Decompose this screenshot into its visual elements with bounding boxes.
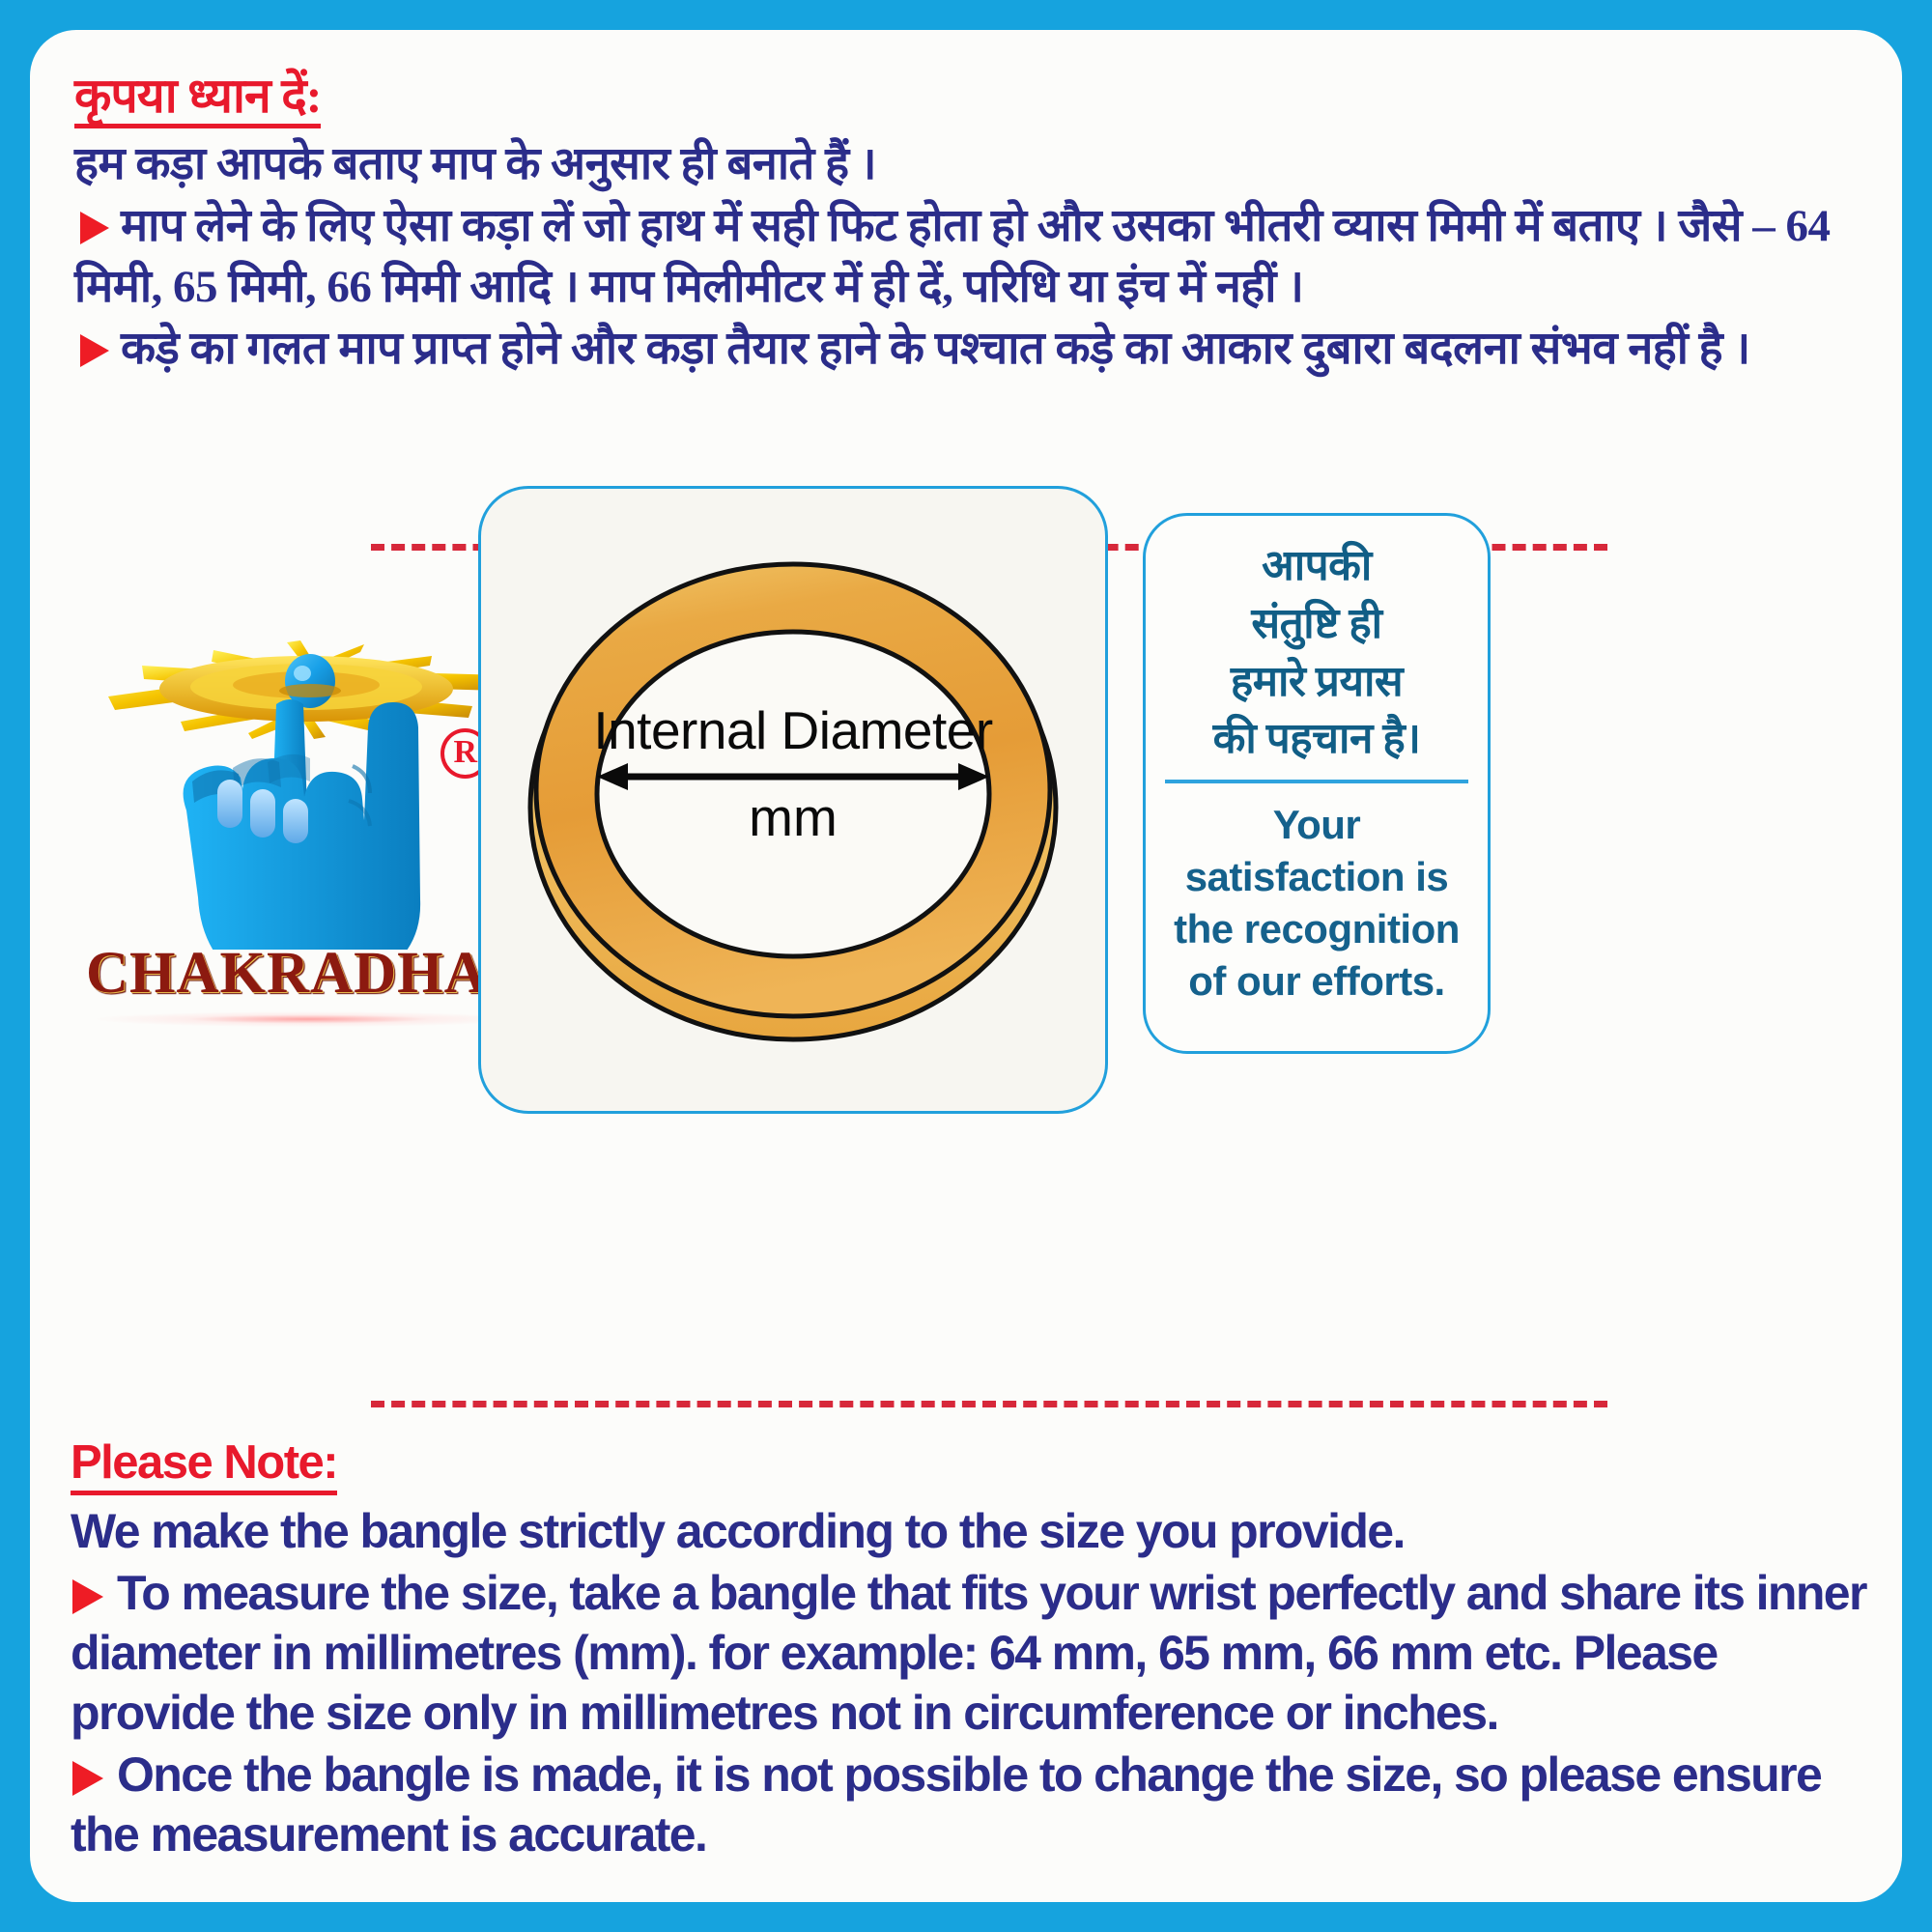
satisfaction-english: Your satisfaction is the recognition of … [1159,799,1474,1007]
hindi-notice-bullet-2-row: कड़े का गलत माप प्राप्त होने और कड़ा तैय… [74,319,1871,380]
satisfaction-english-line-3: the recognition [1159,903,1474,955]
english-notice-bullet-2-row: Once the bangle is made, it is not possi… [71,1745,1877,1864]
bangle-diagram-card: Internal Diameter mm [478,486,1108,1114]
brand-logo: R CHAKRADHARI [86,621,530,1027]
arrow-bullet-icon [72,1579,103,1614]
hindi-notice-heading: कृपया ध्यान दें: [74,71,321,128]
satisfaction-card: आपकी संतुष्टि ही हमारे प्रयास की पहचान ह… [1143,513,1491,1054]
hindi-notice-bullet-2: कड़े का गलत माप प्राप्त होने और कड़ा तैय… [121,324,1750,374]
hand-icon [184,699,421,950]
arrow-bullet-icon [80,334,109,367]
english-notice-bullet-1: To measure the size, take a bangle that … [71,1566,1866,1740]
satisfaction-hindi: आपकी संतुष्टि ही हमारे प्रयास की पहचान ह… [1159,537,1474,768]
hindi-notice-intro: हम कड़ा आपके बताए माप के अनुसार ही बनाते… [74,134,1871,195]
arrow-bullet-icon [80,212,109,244]
hindi-notice-section: कृपया ध्यान दें: हम कड़ा आपके बताए माप क… [74,71,1871,380]
unit-label: mm [481,786,1105,848]
arrow-bullet-icon [72,1761,103,1796]
satisfaction-english-line-1: Your [1159,799,1474,851]
english-notice-bullet-2: Once the bangle is made, it is not possi… [71,1747,1821,1861]
satisfaction-hindi-line-1: आपकी [1159,537,1474,595]
card-frame: कृपया ध्यान दें: हम कड़ा आपके बताए माप क… [30,30,1902,1902]
logo-glow-decor [96,1011,521,1027]
middle-section: R CHAKRADHARI [30,571,1902,1382]
english-notice-bullet-1-row: To measure the size, take a bangle that … [71,1563,1877,1743]
internal-diameter-label: Internal Diameter [481,699,1105,761]
chakra-spikes-icon [108,640,504,739]
english-notice-heading: Please Note: [71,1435,337,1495]
brand-name: CHAKRADHARI [86,940,530,1008]
satisfaction-english-line-2: satisfaction is [1159,851,1474,903]
satisfaction-hindi-line-4: की पहचान है। [1159,710,1474,768]
hand-spinning-chakra-icon [86,621,530,950]
hindi-notice-bullet-1-row: माप लेने के लिए ऐसा कड़ा लें जो हाथ में … [74,196,1871,317]
english-notice-intro: We make the bangle strictly according to… [71,1501,1877,1561]
english-notice-section: Please Note: We make the bangle strictly… [71,1435,1877,1864]
satisfaction-english-line-4: of our efforts. [1159,955,1474,1008]
satisfaction-hindi-line-3: हमारे प्रयास [1159,653,1474,711]
satisfaction-hindi-line-2: संतुष्टि ही [1159,595,1474,653]
hindi-notice-bullet-1: माप लेने के लिए ऐसा कड़ा लें जो हाथ में … [74,201,1831,312]
divider-bottom [371,1401,1607,1407]
satisfaction-divider [1165,780,1468,783]
